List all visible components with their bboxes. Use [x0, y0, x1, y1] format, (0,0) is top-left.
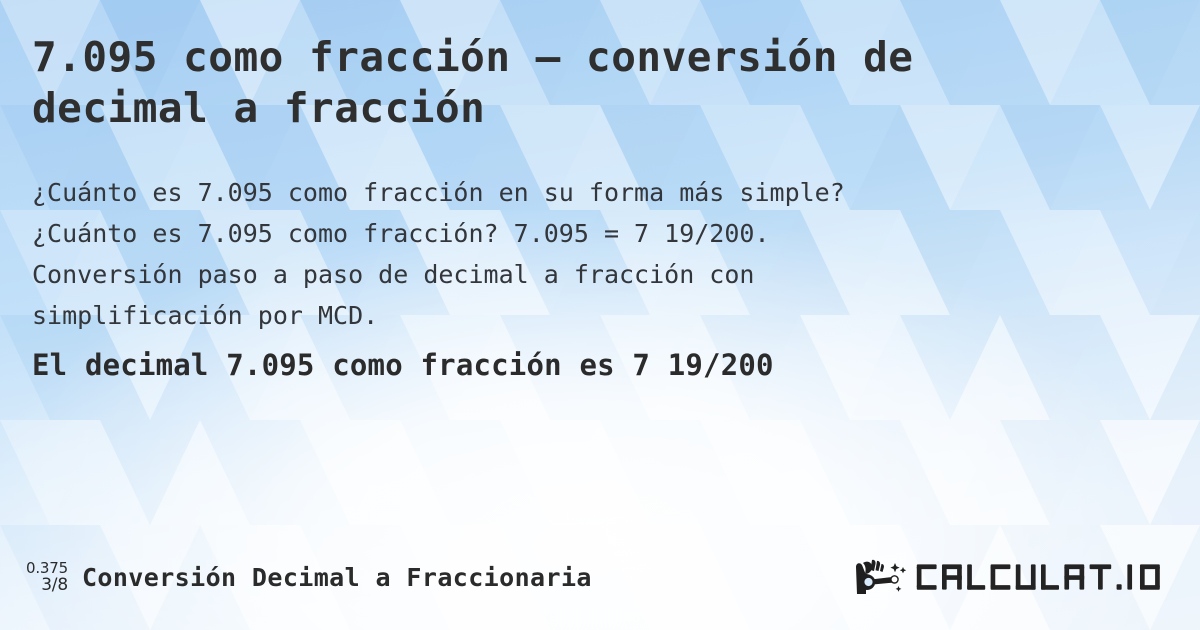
description-line-1: ¿Cuánto es 7.095 como fracción en su for…	[32, 172, 1092, 213]
main-content: 7.095 como fracción – conversión de deci…	[0, 0, 1200, 630]
description-block: ¿Cuánto es 7.095 como fracción en su for…	[32, 172, 1092, 336]
calculatio-wordmark: CALCULAT.IO	[915, 559, 1172, 595]
fraction-logo-fraction: 3/8	[41, 576, 68, 594]
fraction-logo-icon: 0.375 3/8	[26, 560, 68, 595]
page-title: 7.095 como fracción – conversión de deci…	[32, 32, 1112, 134]
calculatio-brand[interactable]: CALCULAT.IO	[853, 550, 1172, 604]
site-branding[interactable]: 0.375 3/8 Conversión Decimal a Fracciona…	[26, 550, 592, 604]
description-line-2: ¿Cuánto es 7.095 como fracción? 7.095 = …	[32, 213, 1092, 254]
result-statement: El decimal 7.095 como fracción es 7 19/2…	[32, 345, 774, 385]
site-name-label: Conversión Decimal a Fraccionaria	[82, 563, 592, 592]
footer: 0.375 3/8 Conversión Decimal a Fracciona…	[0, 550, 1200, 604]
description-line-3: Conversión paso a paso de decimal a frac…	[32, 254, 1092, 295]
fraction-logo-decimal: 0.375	[26, 560, 68, 576]
magic-wand-hand-icon	[853, 557, 909, 597]
social-preview-card: 7.095 como fracción – conversión de deci…	[0, 0, 1200, 630]
description-line-4: simplificación por MCD.	[32, 295, 1092, 336]
